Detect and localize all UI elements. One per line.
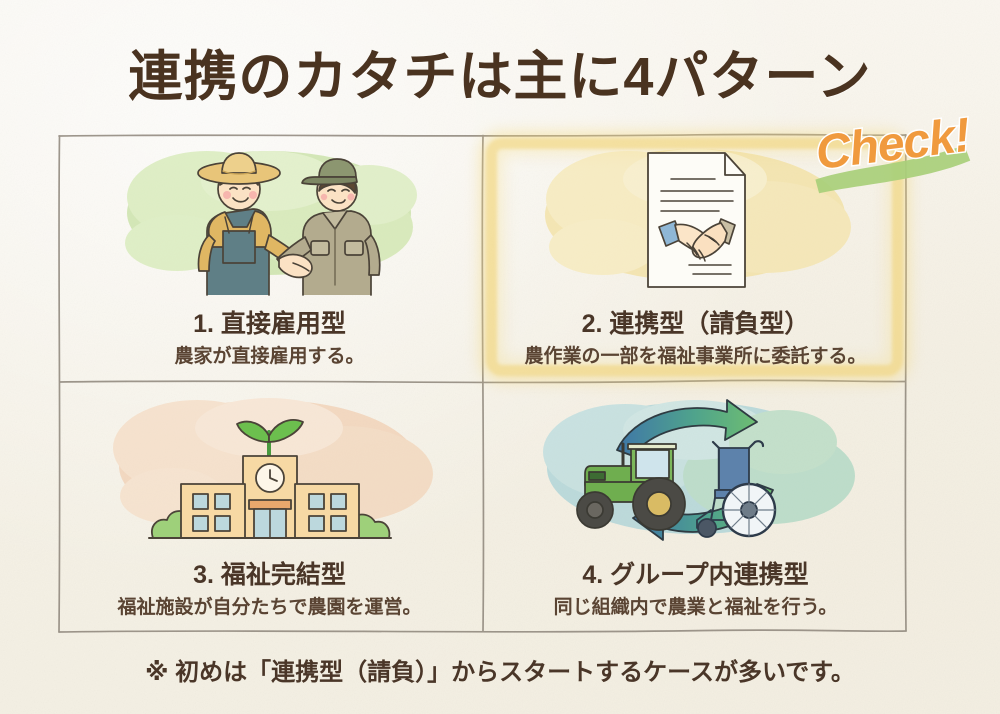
pattern-4-heading: 4. グループ内連携型 bbox=[483, 555, 908, 591]
tractor-wheelchair-cycle-icon bbox=[483, 386, 908, 556]
pattern-card-4[interactable]: 4. グループ内連携型 同じ組織内で農業と福祉を行う。 bbox=[483, 384, 908, 634]
pattern-3-heading: 3. 福祉完結型 bbox=[57, 555, 482, 591]
pattern-1-subtitle: 農家が直接雇用する。 bbox=[57, 341, 482, 368]
pattern-1-heading: 1. 直接雇用型 bbox=[57, 304, 482, 340]
pattern-4-subtitle: 同じ組織内で農業と福祉を行う。 bbox=[483, 592, 908, 619]
infographic-page: 連携のカタチは主に4パターン bbox=[0, 0, 1000, 714]
check-badge-label: Check! bbox=[813, 109, 973, 181]
two-men-handshake-icon bbox=[57, 135, 482, 305]
pattern-2-subtitle: 農作業の一部を福祉事業所に委託する。 bbox=[483, 341, 908, 368]
page-title: 連携のカタチは主に4パターン bbox=[0, 32, 1000, 111]
pattern-grid: 1. 直接雇用型 農家が直接雇用する。 bbox=[57, 133, 908, 634]
pattern-2-heading: 2. 連携型（請負型） bbox=[483, 304, 908, 340]
pattern-card-1[interactable]: 1. 直接雇用型 農家が直接雇用する。 bbox=[57, 133, 482, 383]
pattern-3-subtitle: 福祉施設が自分たちで農園を運営。 bbox=[57, 592, 482, 619]
pattern-card-3[interactable]: 3. 福祉完結型 福祉施設が自分たちで農園を運営。 bbox=[57, 384, 482, 634]
footer-note: ※ 初めは「連携型（請負）」からスタートするケースが多いです。 bbox=[0, 652, 1000, 687]
welfare-facility-building-sprout-icon bbox=[57, 386, 482, 556]
